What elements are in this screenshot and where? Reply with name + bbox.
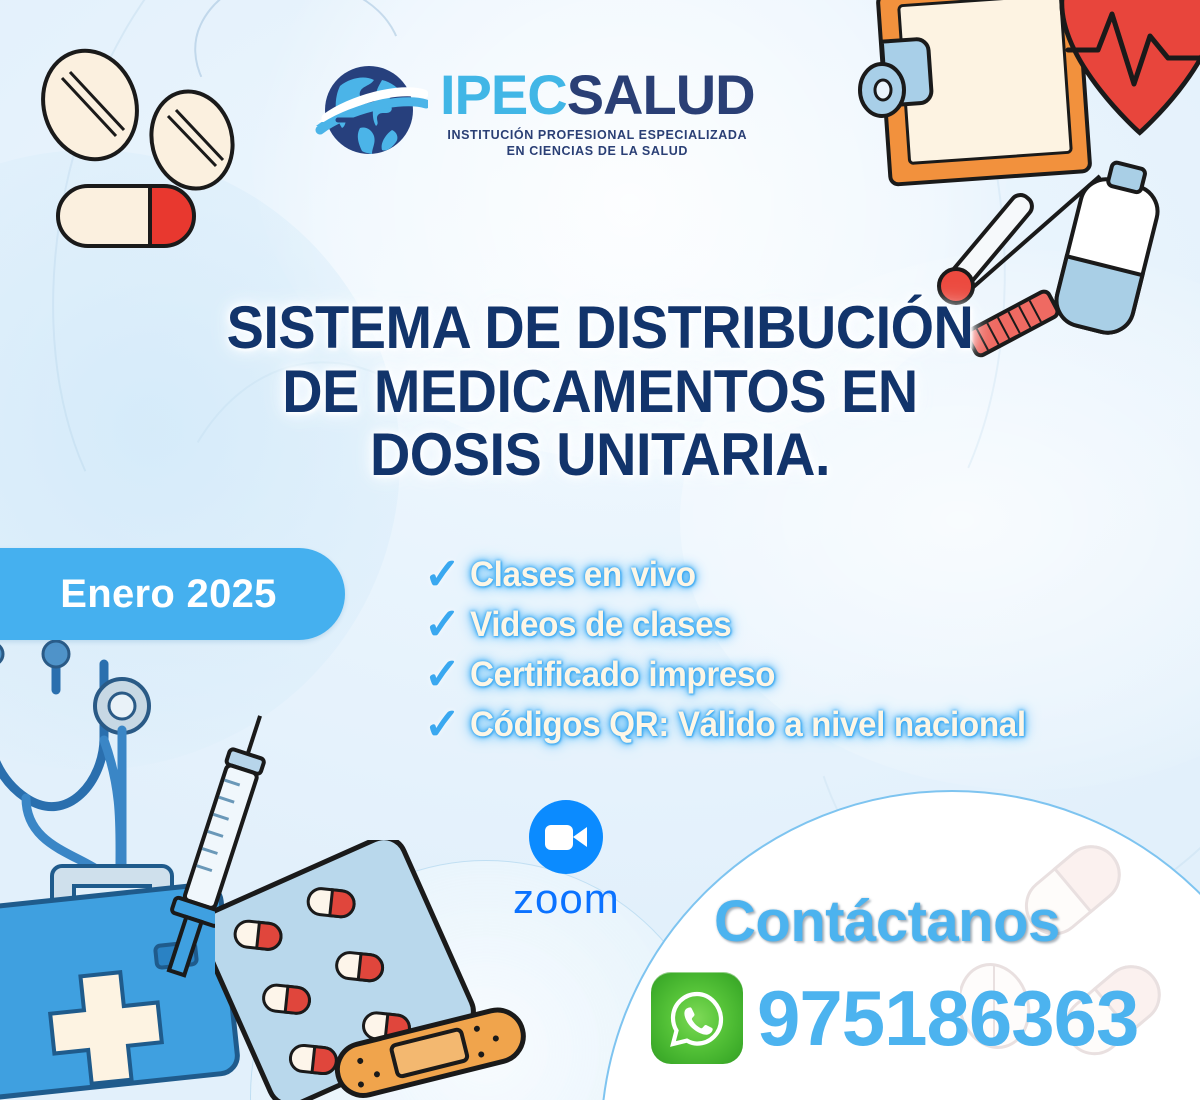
flyer-canvas: IPECSALUD INSTITUCIÓN PROFESIONAL ESPECI… bbox=[0, 0, 1200, 1100]
brand-tagline: INSTITUCIÓN PROFESIONAL ESPECIALIZADA EN… bbox=[447, 128, 747, 159]
date-badge-label: Enero 2025 bbox=[38, 572, 276, 617]
zoom-platform-logo: zoom bbox=[513, 800, 620, 920]
check-icon: ✓ bbox=[424, 703, 458, 747]
page-title-line3: DOSIS UNITARIA. bbox=[42, 423, 1158, 487]
pills-tablets-capsule-illustration bbox=[20, 30, 270, 280]
zoom-wordmark: zoom bbox=[513, 878, 620, 920]
feature-label: Clases en vivo bbox=[470, 555, 696, 595]
page-title-line2: DE MEDICAMENTOS EN bbox=[42, 360, 1158, 424]
check-icon: ✓ bbox=[424, 603, 458, 647]
feature-label: Videos de clases bbox=[470, 605, 731, 645]
brand-name-part1: IPEC bbox=[440, 63, 567, 126]
check-icon: ✓ bbox=[424, 553, 458, 597]
check-icon: ✓ bbox=[424, 653, 458, 697]
whatsapp-icon[interactable] bbox=[651, 972, 743, 1064]
page-title-line1: SISTEMA DE DISTRIBUCIÓN bbox=[42, 296, 1158, 360]
list-item: ✓ Certificado impreso bbox=[424, 653, 1055, 697]
contact-heading: Contáctanos bbox=[714, 888, 1060, 955]
contact-phone-number[interactable]: 975186363 bbox=[757, 979, 1138, 1057]
whatsapp-glyph bbox=[665, 986, 729, 1050]
zoom-camera-icon bbox=[529, 800, 603, 874]
zoom-camera-lens bbox=[573, 827, 587, 847]
stethoscope-syringe-firstaid-illustration bbox=[0, 630, 330, 1100]
list-item: ✓ Códigos QR: Válido a nivel nacional bbox=[424, 703, 1055, 747]
zoom-camera-glyph bbox=[545, 825, 587, 850]
globe-icon bbox=[310, 52, 428, 170]
blister-pack-bandage-illustration bbox=[215, 840, 545, 1100]
feature-list: ✓ Clases en vivo ✓ Videos de clases ✓ Ce… bbox=[424, 553, 1055, 747]
list-item: ✓ Videos de clases bbox=[424, 603, 1055, 647]
brand-tagline-line1: INSTITUCIÓN PROFESIONAL ESPECIALIZADA bbox=[447, 128, 747, 144]
feature-label: Códigos QR: Válido a nivel nacional bbox=[470, 705, 1026, 745]
list-item: ✓ Clases en vivo bbox=[424, 553, 1055, 597]
brand-logo: IPECSALUD INSTITUCIÓN PROFESIONAL ESPECI… bbox=[310, 52, 755, 170]
page-title: SISTEMA DE DISTRIBUCIÓN DE MEDICAMENTOS … bbox=[42, 296, 1158, 487]
date-badge: Enero 2025 bbox=[0, 548, 345, 640]
feature-label: Certificado impreso bbox=[470, 655, 775, 695]
brand-tagline-line2: EN CIENCIAS DE LA SALUD bbox=[447, 144, 747, 160]
zoom-camera-body bbox=[545, 825, 573, 850]
brand-name: IPECSALUD bbox=[440, 67, 755, 123]
brand-name-part2: SALUD bbox=[567, 63, 755, 126]
brand-wordmark: IPECSALUD INSTITUCIÓN PROFESIONAL ESPECI… bbox=[440, 67, 755, 159]
contact-phone-row[interactable]: 975186363 bbox=[651, 972, 1138, 1064]
